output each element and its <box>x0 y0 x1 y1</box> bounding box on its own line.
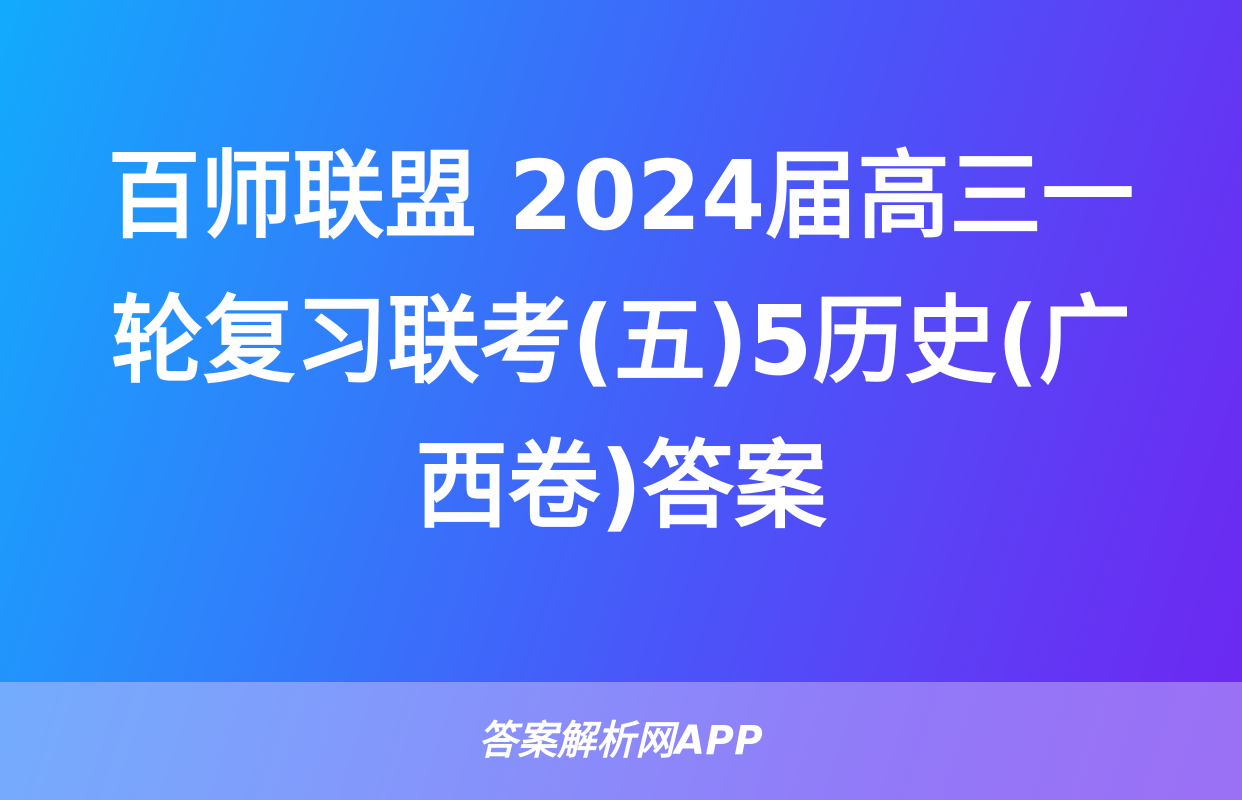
watermark-label: 答案解析网APP <box>479 721 764 761</box>
page-title-line-2: 轮复习联考(五)5历史(广 <box>92 269 1150 414</box>
page-title-line-3: 西卷)答案 <box>92 414 1150 559</box>
watermark-band: 答案解析网APP <box>0 682 1242 800</box>
answer-poster: 百师联盟 2024届高三一 轮复习联考(五)5历史(广 西卷)答案 答案解析网A… <box>0 0 1242 800</box>
page-title: 百师联盟 2024届高三一 轮复习联考(五)5历史(广 西卷)答案 <box>70 124 1172 559</box>
page-title-line-1: 百师联盟 2024届高三一 <box>92 124 1150 269</box>
hero-gradient-panel: 百师联盟 2024届高三一 轮复习联考(五)5历史(广 西卷)答案 <box>0 0 1242 682</box>
